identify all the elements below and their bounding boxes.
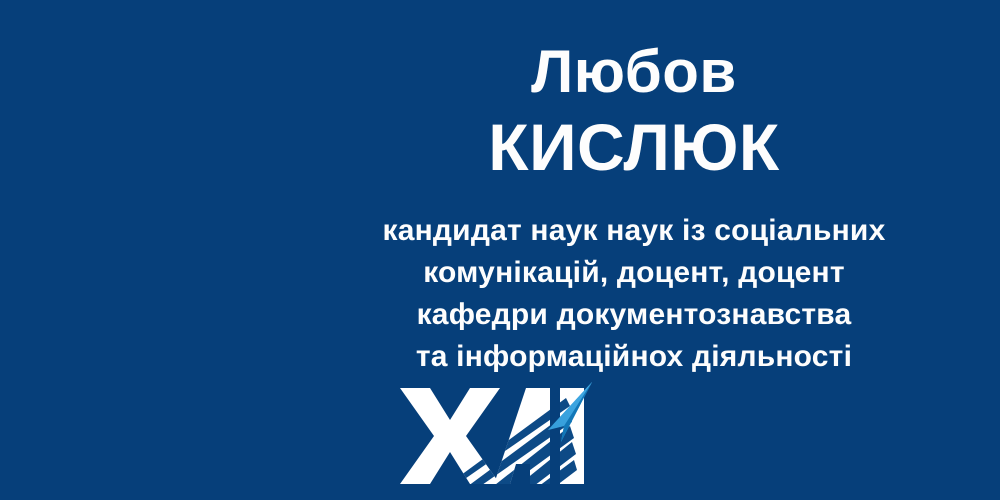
logo-letters bbox=[400, 388, 584, 484]
subtitle-line-1: кандидат наук наук із соціальних bbox=[300, 210, 968, 252]
profile-card: Любов КИСЛЮК кандидат наук наук із соціа… bbox=[0, 0, 1000, 500]
subtitle-line-4: та інформаційнох діяльності bbox=[300, 336, 968, 378]
subtitle-line-3: кафедри документознавства bbox=[300, 294, 968, 336]
subtitle-line-2: комунікацій, доцент, доцент bbox=[300, 252, 968, 294]
person-text-block: Любов КИСЛЮК кандидат наук наук із соціа… bbox=[300, 0, 968, 370]
person-subtitle: кандидат наук наук із соціальних комунік… bbox=[300, 210, 968, 378]
person-last-name: КИСЛЮК bbox=[300, 114, 968, 180]
person-first-name: Любов bbox=[300, 42, 968, 102]
khai-logo bbox=[398, 380, 594, 492]
